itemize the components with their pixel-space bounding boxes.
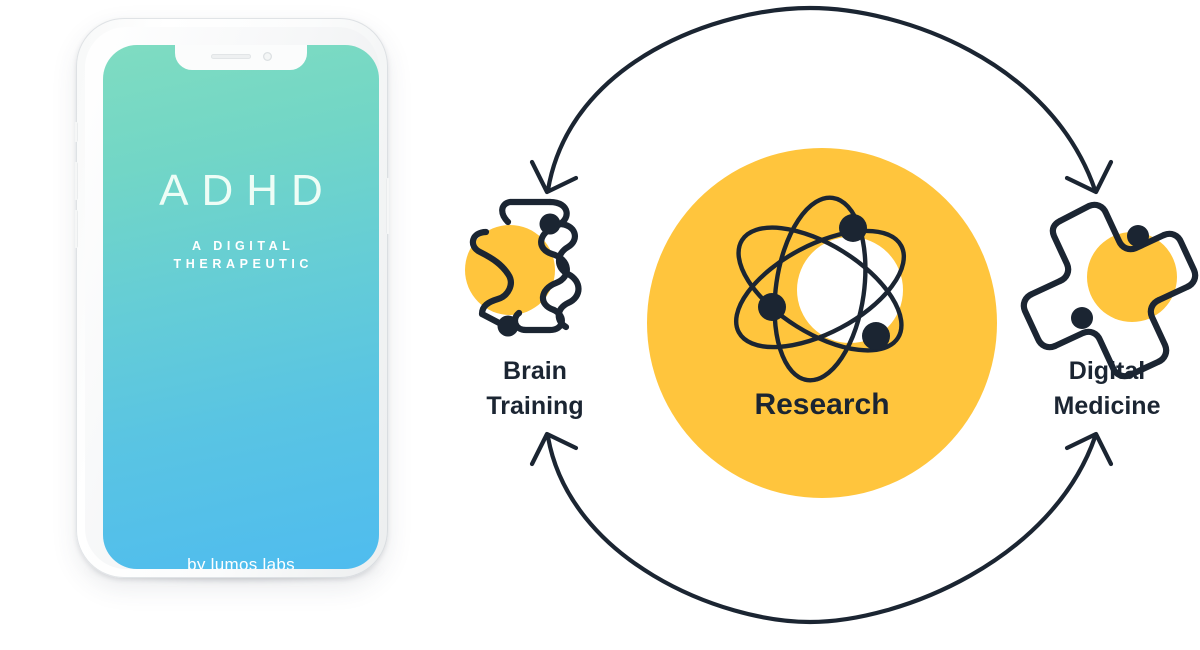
- research-label: Research: [754, 388, 889, 421]
- brain-training-label-line-2: Training: [486, 392, 583, 420]
- atom-electron-top: [839, 214, 867, 242]
- power-button[interactable]: [386, 178, 390, 234]
- node-brain-training[interactable]: Brain Training: [465, 202, 584, 420]
- speaker-icon: [211, 54, 251, 59]
- research-cycle-diagram: Brain Training Research: [420, 0, 1200, 650]
- atom-electron-left: [758, 293, 786, 321]
- volume-up-button[interactable]: [74, 162, 78, 200]
- app-subtitle-line-1: A DIGITAL: [103, 237, 379, 255]
- digital-medicine-label-line-1: Digital: [1069, 357, 1145, 385]
- atom-electron-right: [862, 322, 890, 350]
- app-subtitle-line-2: THERAPEUTIC: [103, 255, 379, 273]
- app-brand-footer: by lumos labs: [103, 555, 379, 569]
- digital-medicine-label-line-2: Medicine: [1054, 392, 1161, 420]
- phone-notch: [175, 45, 307, 70]
- front-camera-icon: [263, 52, 272, 61]
- node-research[interactable]: Research: [647, 148, 997, 498]
- phone-bezel: ADHD A DIGITAL THERAPEUTIC by lumos labs: [85, 27, 379, 569]
- app-title: ADHD: [103, 169, 379, 213]
- app-splash-screen: ADHD A DIGITAL THERAPEUTIC by lumos labs: [103, 45, 379, 569]
- phone-body: ADHD A DIGITAL THERAPEUTIC by lumos labs: [76, 18, 388, 578]
- phone-mockup: ADHD A DIGITAL THERAPEUTIC by lumos labs: [76, 18, 388, 588]
- app-subtitle: A DIGITAL THERAPEUTIC: [103, 237, 379, 273]
- phone-screen[interactable]: ADHD A DIGITAL THERAPEUTIC by lumos labs: [103, 45, 379, 569]
- digital-medicine-accent-circle: [1087, 232, 1177, 322]
- brain-training-label-line-1: Brain: [503, 357, 567, 385]
- volume-down-button[interactable]: [74, 210, 78, 248]
- node-digital-medicine[interactable]: Digital Medicine: [1024, 205, 1195, 420]
- silent-switch[interactable]: [74, 122, 78, 142]
